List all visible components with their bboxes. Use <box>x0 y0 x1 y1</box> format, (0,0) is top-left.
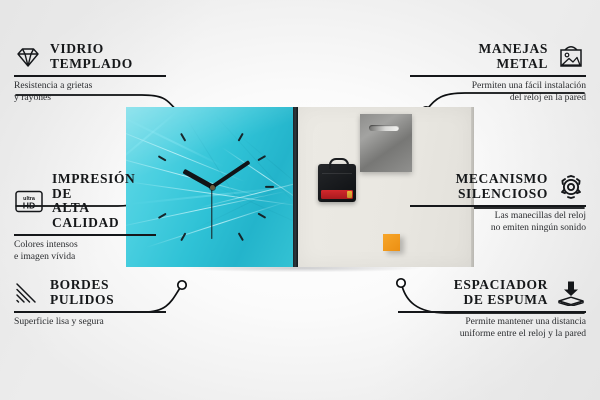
feature-vidrio-templado: VIDRIO TEMPLADO Resistencia a grietas y … <box>14 42 166 103</box>
foam-spacer <box>383 234 400 251</box>
feature-title: BORDES PULIDOS <box>50 278 114 307</box>
metal-hanger-plate <box>360 114 412 172</box>
feature-rule <box>14 311 166 313</box>
feature-title: IMPRESIÓN DE ALTA CALIDAD <box>52 172 156 230</box>
clock-tick <box>180 232 186 241</box>
feature-mecanismo-silencioso: MECANISMO SILENCIOSO Las manecillas del … <box>410 172 586 233</box>
infographic-canvas: VIDRIO TEMPLADO Resistencia a grietas y … <box>0 0 600 400</box>
feature-bordes-pulidos: BORDES PULIDOS Superficie lisa y segura <box>14 278 166 328</box>
clock-tick <box>158 155 167 161</box>
callout-dot-bordes <box>178 281 186 289</box>
clock-center-pin <box>210 185 215 190</box>
mechanism-hanging-loop <box>329 158 349 169</box>
gear-icon <box>556 173 586 201</box>
clock-hour-hand <box>182 169 213 189</box>
feature-manejas-metal: MANEJAS METAL Permiten una fácil instala… <box>410 42 586 103</box>
feature-title: ESPACIADOR DE ESPUMA <box>454 278 548 307</box>
feature-espaciador-espuma: ESPACIADOR DE ESPUMA Permite mantener un… <box>398 278 586 339</box>
feature-title: VIDRIO TEMPLADO <box>50 42 133 71</box>
polished-edge-icon <box>14 281 42 305</box>
feature-rule <box>410 205 586 207</box>
foam-spacer-icon <box>556 280 586 306</box>
feature-subtitle: Permite mantener una distancia uniforme … <box>398 316 586 339</box>
feature-subtitle: Las manecillas del reloj no emiten ningú… <box>410 210 586 233</box>
feature-rule <box>398 311 586 313</box>
clock-tick <box>238 232 244 241</box>
hanger-keyhole-slot <box>369 125 399 131</box>
feature-rule <box>410 75 586 77</box>
feature-subtitle: Permiten una fácil instalación del reloj… <box>410 80 586 103</box>
clock-tick <box>257 213 266 219</box>
feature-subtitle: Superficie lisa y segura <box>14 316 166 328</box>
clock-tick <box>180 133 186 142</box>
ultra-hd-icon: ultra HD <box>14 189 44 214</box>
feature-title: MECANISMO SILENCIOSO <box>456 172 548 201</box>
feature-subtitle: Colores intensos e imagen vívida <box>14 239 156 262</box>
clock-tick <box>265 186 274 188</box>
battery <box>321 190 353 199</box>
feature-rule <box>14 234 156 236</box>
diamond-icon <box>14 45 42 69</box>
feature-title: MANEJAS METAL <box>479 42 548 71</box>
quartz-mechanism <box>318 164 356 202</box>
feature-impresion-alta-calidad: ultra HD IMPRESIÓN DE ALTA CALIDAD Color… <box>14 172 156 262</box>
feature-subtitle: Resistencia a grietas y rayones <box>14 80 166 103</box>
svg-text:HD: HD <box>23 200 35 210</box>
mechanism-seam <box>322 173 352 174</box>
feature-rule <box>14 75 166 77</box>
picture-hanger-icon <box>556 44 586 70</box>
